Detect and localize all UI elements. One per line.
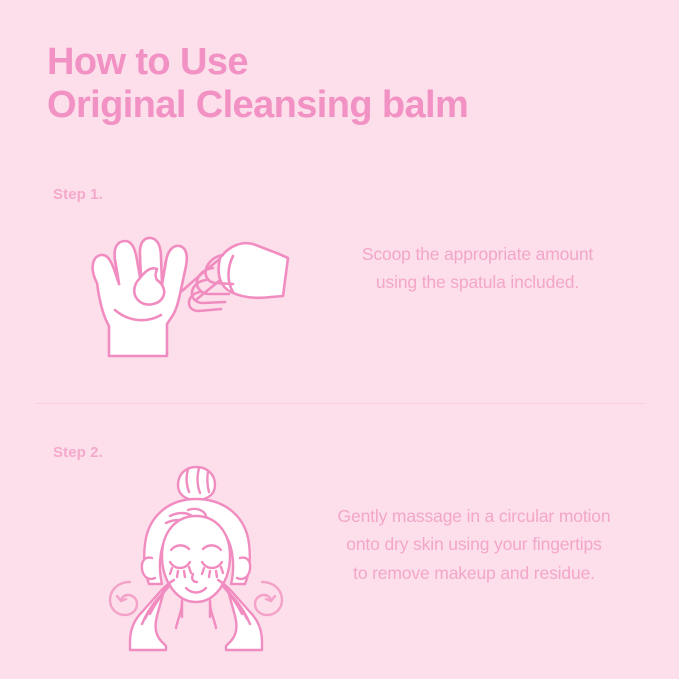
step-2-text-line-2: onto dry skin using your fingertips bbox=[300, 530, 648, 558]
step-1-section: Step 1. bbox=[0, 176, 679, 391]
step-1-text: Scoop the appropriate amount using the s… bbox=[320, 240, 635, 297]
step-2-section: Step 2. bbox=[0, 434, 679, 649]
step-2-text: Gently massage in a circular motion onto… bbox=[300, 502, 648, 587]
step-2-text-line-1: Gently massage in a circular motion bbox=[300, 502, 648, 530]
step-2-label: Step 2. bbox=[53, 444, 103, 461]
hands-scooping-balm-with-spatula-icon bbox=[45, 198, 295, 373]
how-to-use-infographic: How to Use Original Cleansing balm Step … bbox=[0, 0, 679, 679]
page-title-line-1: How to Use bbox=[47, 41, 607, 84]
step-1-text-line-1: Scoop the appropriate amount bbox=[320, 240, 635, 268]
page-title-line-2: Original Cleansing balm bbox=[47, 84, 607, 127]
woman-massaging-face-icon bbox=[100, 452, 290, 652]
step-1-text-line-2: using the spatula included. bbox=[320, 268, 635, 296]
step-2-text-line-3: to remove makeup and residue. bbox=[300, 559, 648, 587]
page-title: How to Use Original Cleansing balm bbox=[47, 41, 607, 126]
section-divider bbox=[36, 403, 645, 404]
